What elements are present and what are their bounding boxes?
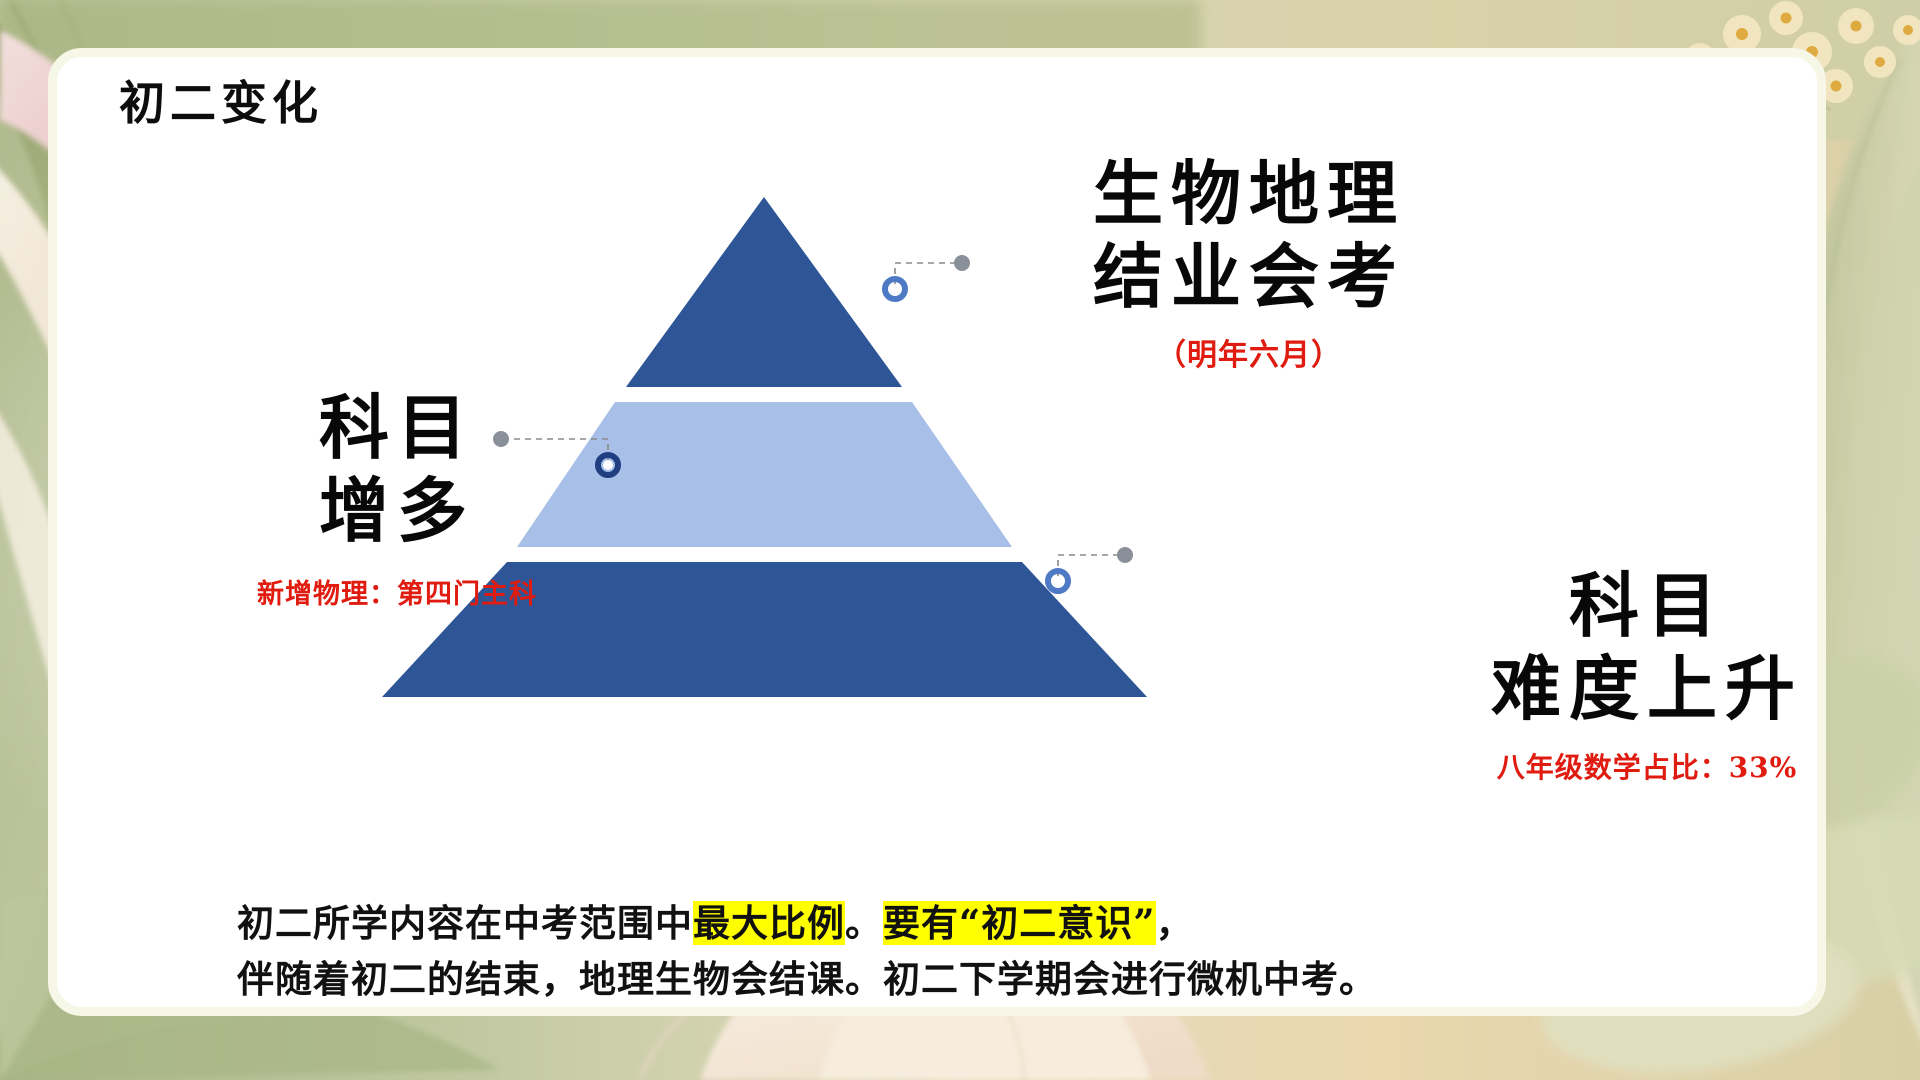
callout-top-right-line2: 结业会考 <box>969 236 1529 319</box>
pyramid-level-top[interactable] <box>626 197 902 387</box>
footer-paragraph: 初二所学内容在中考范围中最大比例。要有“初二意识”， 伴随着初二的结束，地理生物… <box>237 895 1677 1007</box>
callout-bottom-right-line2: 难度上升 <box>1377 648 1826 731</box>
footer-line1-pre: 初二所学内容在中考范围中 <box>237 901 693 945</box>
callout-left-line2: 增多 <box>187 470 607 553</box>
callout-bottom-right-note: 八年级数学占比：33% <box>1377 746 1826 786</box>
callout-left[interactable]: 科目 增多 新增物理：第四门主科 <box>187 387 607 611</box>
footer-line-2: 伴随着初二的结束，地理生物会结课。初二下学期会进行微机中考。 <box>237 951 1677 1007</box>
footer-highlight-1: 最大比例 <box>693 901 845 945</box>
callout-bottom-right[interactable]: 科目 难度上升 八年级数学占比：33% <box>1377 565 1826 786</box>
callout-left-line1: 科目 <box>187 387 607 470</box>
callout-top-right-line1: 生物地理 <box>969 153 1529 236</box>
callout-bottom-right-line1: 科目 <box>1377 565 1826 648</box>
callout-top-right[interactable]: 生物地理 结业会考 （明年六月） <box>969 153 1529 374</box>
callout-top-right-note: （明年六月） <box>969 330 1529 374</box>
connector-bottom <box>1048 547 1133 591</box>
footer-line1-post: ， <box>1156 901 1194 945</box>
slide-card: 初二变化 生物地理 结业会 <box>48 48 1826 1016</box>
footer-highlight-2: 要有“初二意识” <box>883 901 1156 945</box>
footer-line1-mid: 。 <box>845 901 883 945</box>
footer-line-1: 初二所学内容在中考范围中最大比例。要有“初二意识”， <box>237 895 1677 951</box>
connector-top <box>885 255 970 299</box>
callout-left-note: 新增物理：第四门主科 <box>187 572 607 611</box>
